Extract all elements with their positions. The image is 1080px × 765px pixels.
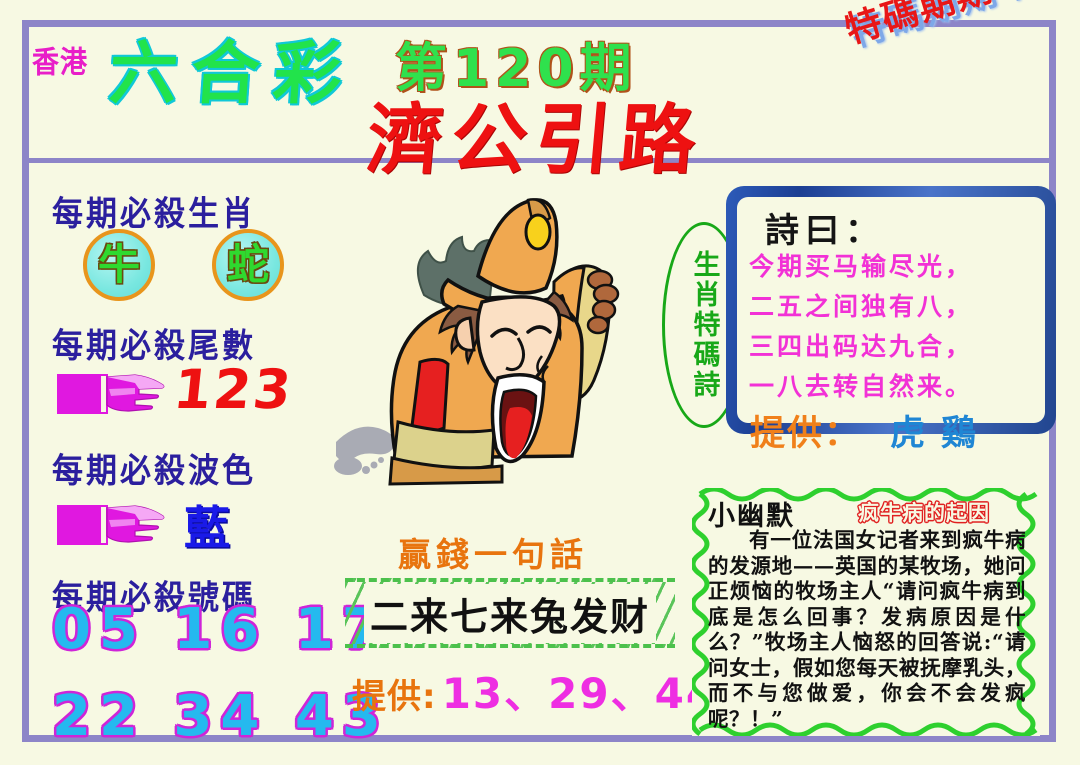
phrase-supply-value: 13、29、44 — [442, 669, 717, 718]
hand-cuff — [57, 374, 99, 414]
lottery-title: 六合彩 — [107, 18, 360, 117]
pointing-hand-icon — [57, 500, 167, 548]
joke-inner: 小幽默 疯牛病的起因 有一位法国女记者来到疯牛病的发源地——英国的某牧场，她问正… — [708, 494, 1026, 728]
kill-tail-value: 123 — [171, 358, 296, 421]
poem-line: 二五之间独有八， — [749, 287, 973, 323]
poem-box: 詩曰： 今期买马输尽光， 二五之间独有八， 三四出码达九合， 一八去转自然来。 — [726, 186, 1056, 434]
poem-oval-text: 生肖特碼詩 — [685, 250, 724, 400]
hand-glyph — [105, 369, 167, 417]
joke-subtitle: 疯牛病的起因 — [858, 497, 990, 527]
winning-phrase-title: 贏錢一句話 — [398, 528, 588, 576]
kill-numbers-row2: 22 34 43 — [52, 684, 389, 749]
winning-phrase-text: 二来七来兔发财 — [364, 584, 656, 643]
kill-numbers-row1: 05 16 17 — [52, 597, 389, 662]
hand-glyph — [105, 500, 167, 548]
pointing-hand-icon — [57, 369, 167, 417]
kill-zodiac-label: 每期必殺生肖 — [52, 186, 256, 235]
zodiac-circle-snake: 蛇 — [212, 229, 284, 301]
phrase-supply: 提供: 13、29、44 — [352, 660, 717, 721]
zodiac-char: 牛 — [98, 244, 140, 286]
poem-supply-label: 提供： — [750, 414, 861, 454]
kill-wave-label: 每期必殺波色 — [52, 443, 256, 492]
poem-supply-value: 虎鷄 — [890, 414, 992, 454]
hand-cuff — [57, 505, 99, 545]
joke-box: 小幽默 疯牛病的起因 有一位法国女记者来到疯牛病的发源地——英国的某牧场，她问正… — [692, 488, 1040, 736]
zodiac-circle-ox: 牛 — [83, 229, 155, 301]
poem-inner: 詩曰： 今期买马输尽光， 二五之间独有八， 三四出码达九合， 一八去转自然来。 — [737, 197, 1045, 423]
phrase-supply-label: 提供: — [352, 677, 437, 717]
poster-root: 香港 六合彩 第120期 濟公引路 特碼期期中! 每期必殺生肖 牛 蛇 每期必殺… — [0, 0, 1080, 765]
winning-phrase-box: 二来七来兔发财 — [345, 578, 675, 648]
region-label: 香港 — [32, 38, 88, 82]
joke-body: 有一位法国女记者来到疯牛病的发源地——英国的某牧场，她问正烦恼的牧场主人“请问疯… — [708, 528, 1026, 732]
poem-line: 一八去转自然来。 — [749, 367, 973, 403]
poem-line: 今期买马输尽光， — [749, 247, 973, 283]
poem-heading: 詩曰： — [765, 203, 885, 252]
poem-line: 三四出码达九合， — [749, 327, 973, 363]
poem-supply: 提供： 虎鷄 — [750, 405, 992, 456]
zodiac-char: 蛇 — [227, 244, 269, 286]
kill-wave-value: 藍 — [184, 492, 232, 558]
mascot-illustration — [332, 170, 692, 510]
